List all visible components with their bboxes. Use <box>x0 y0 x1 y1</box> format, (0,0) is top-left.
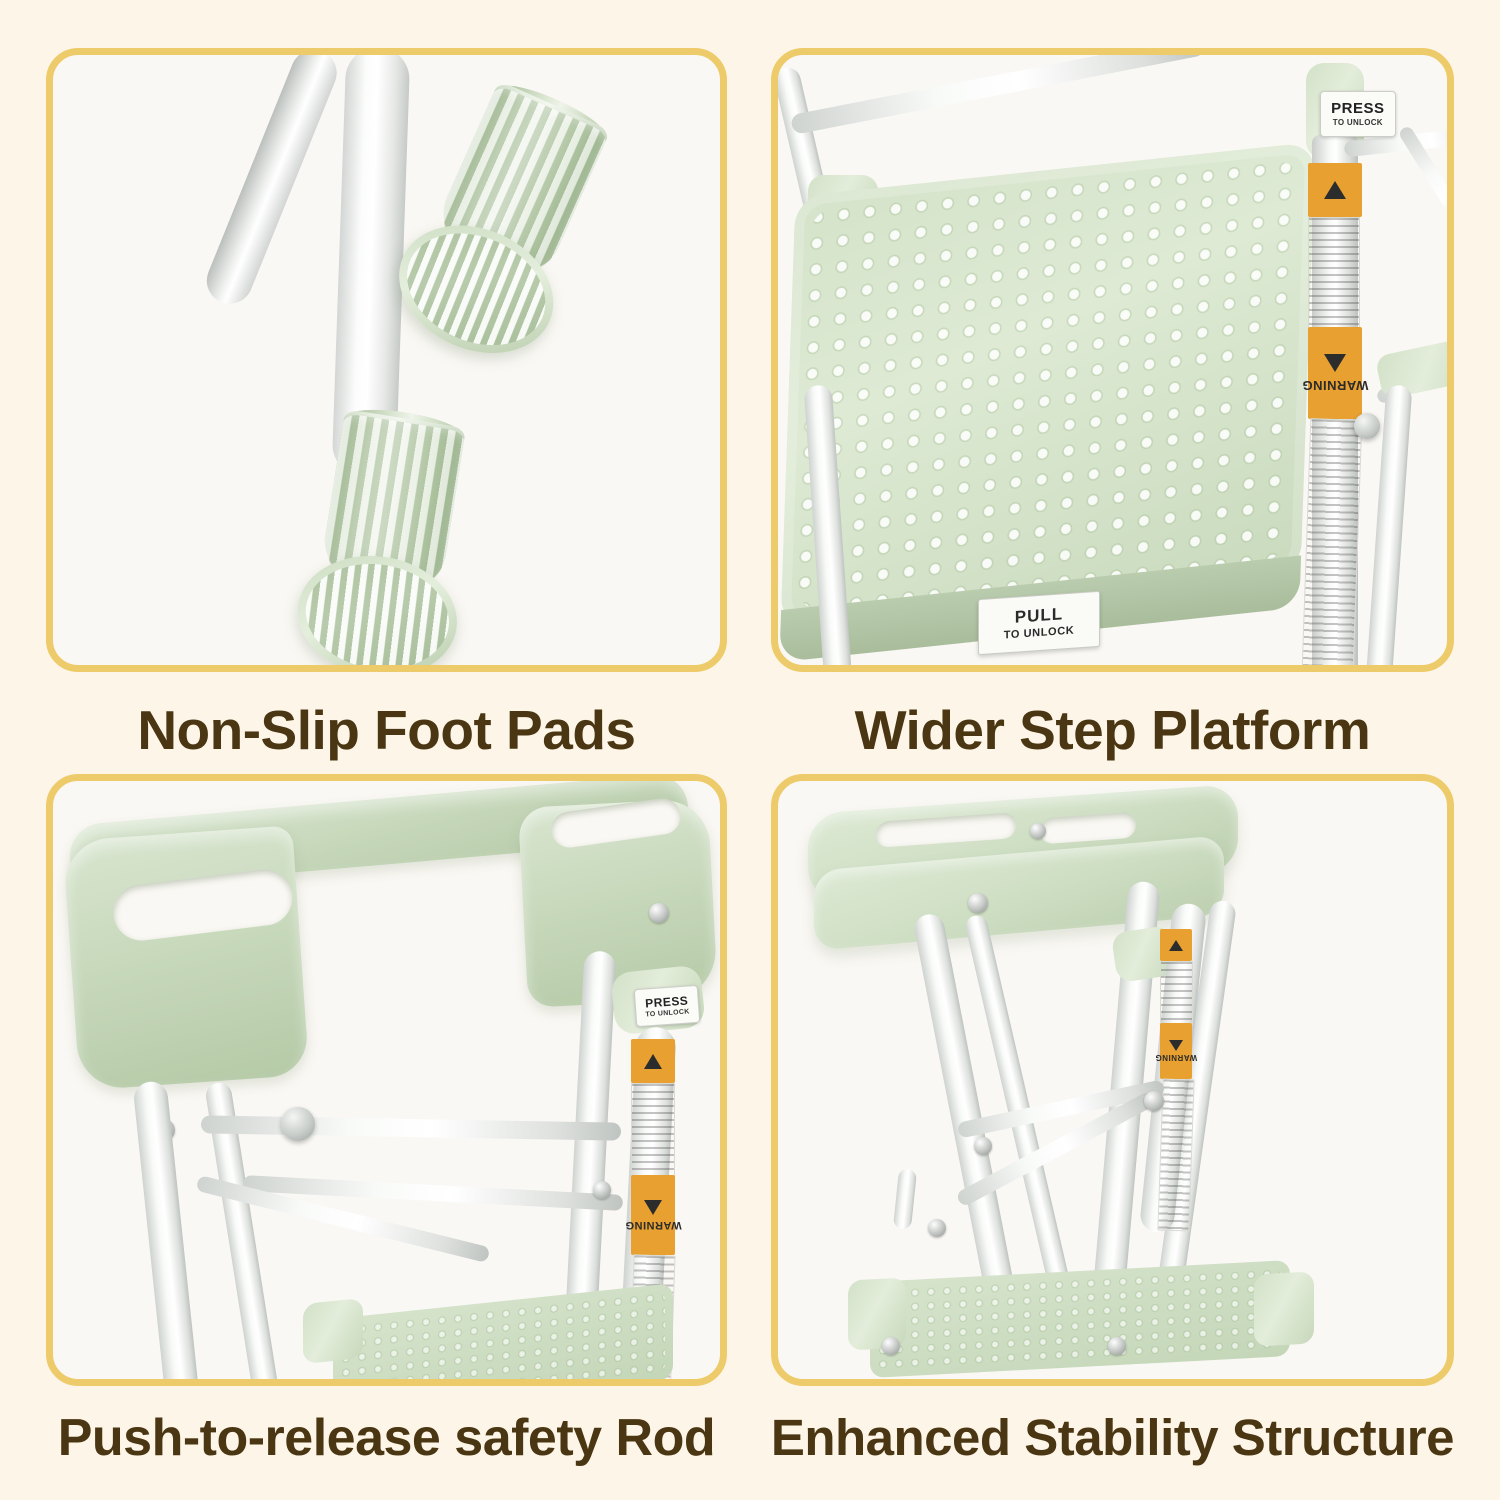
safety-rod-illustration: PRESS TO UNLOCK WARNING <box>53 781 720 1379</box>
top-rail-tube <box>790 48 1206 135</box>
feature-grid: Non-Slip Foot Pads PULL <box>0 0 1500 1500</box>
front-left-leg <box>912 912 1018 1310</box>
warning-triangle-icon <box>644 1054 662 1069</box>
spec-text-label <box>631 1083 675 1177</box>
warning-triangle-icon <box>1169 940 1183 951</box>
warning-arrow-band <box>1308 163 1362 217</box>
press-button-line1: PRESS <box>645 994 689 1009</box>
instruction-strip-label <box>1301 418 1362 672</box>
pull-tag-line1: PULL <box>1015 605 1063 625</box>
warning-triangle-icon <box>644 1200 662 1215</box>
platform-surface <box>780 142 1315 628</box>
side-green-bracket <box>1374 334 1454 400</box>
rear-support-tube <box>893 1168 917 1230</box>
feature-caption-push-to-release-safety-rod: Push-to-release safety Rod <box>46 1408 727 1468</box>
brace-rivet-right <box>1144 1091 1164 1111</box>
warning-label-band: WARNING <box>1160 1023 1192 1079</box>
handrail-left-arc <box>63 825 310 1090</box>
feature-image-push-to-release-safety-rod: PRESS TO UNLOCK WARNING <box>46 774 727 1386</box>
foot-pad-lower <box>292 407 480 672</box>
feature-cell-wider-step-platform: PULL TO UNLOCK PRESS TO UNLOCK WARNI <box>749 0 1500 762</box>
spec-text-label <box>1308 217 1360 331</box>
feature-caption-wider-step-platform: Wider Step Platform <box>771 698 1454 762</box>
handrail-right-rivet <box>649 903 669 923</box>
foot-pad-upper <box>389 75 624 355</box>
step-rivet-mid <box>1108 1337 1126 1355</box>
brace-rivet-left <box>928 1219 946 1237</box>
warning-text: WARNING <box>1302 378 1368 393</box>
press-button-line1: PRESS <box>1331 101 1384 116</box>
press-to-unlock-button[interactable]: PRESS TO UNLOCK <box>634 985 700 1027</box>
feature-caption-enhanced-stability-structure: Enhanced Stability Structure <box>771 1408 1454 1467</box>
feature-image-enhanced-stability-structure: WARNING <box>771 774 1454 1386</box>
step-platform <box>780 142 1315 628</box>
tray-hinge-rivet <box>968 893 988 913</box>
feature-cell-non-slip-foot-pads: Non-Slip Foot Pads <box>0 0 749 762</box>
platform-anti-slip-dots <box>797 160 1299 611</box>
foot-pads-illustration <box>53 55 720 665</box>
bottom-step-platform <box>870 1260 1290 1378</box>
warning-triangle-icon <box>1324 181 1346 199</box>
tray-rivet <box>1030 823 1046 839</box>
lower-step-texture <box>341 1292 665 1386</box>
warning-arrow-band <box>631 1039 675 1083</box>
feature-cell-enhanced-stability-structure: WARNING Enhanced Stability <box>749 762 1500 1500</box>
warning-arrow-band <box>1160 929 1192 961</box>
horizontal-cross-rod <box>201 1115 621 1140</box>
cross-rod-knob <box>281 1107 315 1141</box>
warning-triangle-icon <box>1324 354 1346 372</box>
pull-to-unlock-tag: PULL TO UNLOCK <box>978 591 1100 656</box>
step-side-bracket <box>303 1298 363 1364</box>
left-leg-tube <box>132 1080 199 1386</box>
ladder-brace-tube <box>200 48 344 311</box>
brace-rivet-mid <box>974 1137 992 1155</box>
spec-text-label <box>1160 961 1193 1025</box>
lower-step-platform <box>333 1283 673 1386</box>
step-right-bracket <box>1254 1271 1314 1346</box>
step-platform-illustration: PULL TO UNLOCK PRESS TO UNLOCK WARNI <box>778 55 1447 665</box>
lock-knob <box>1354 413 1380 439</box>
warning-triangle-icon <box>1169 1040 1183 1051</box>
warning-text: WARNING <box>1155 1053 1197 1062</box>
press-to-unlock-button[interactable]: PRESS TO UNLOCK <box>1320 91 1396 137</box>
step-rivet-left <box>882 1337 900 1355</box>
warning-label-band: WARNING <box>1308 327 1362 419</box>
feature-caption-non-slip-foot-pads: Non-Slip Foot Pads <box>46 698 727 762</box>
lower-rod-rivet <box>593 1181 611 1199</box>
feature-image-non-slip-foot-pads <box>46 48 727 672</box>
press-button-line2: TO UNLOCK <box>1333 118 1383 127</box>
bottom-step-texture <box>878 1268 1282 1369</box>
pull-tag-line2: TO UNLOCK <box>1004 625 1075 642</box>
warning-text: WARNING <box>625 1219 682 1231</box>
feature-image-wider-step-platform: PULL TO UNLOCK PRESS TO UNLOCK WARNI <box>771 48 1454 672</box>
feature-cell-push-to-release-safety-rod: PRESS TO UNLOCK WARNING <box>0 762 749 1500</box>
stability-structure-illustration: WARNING <box>778 781 1447 1379</box>
warning-label-band: WARNING <box>631 1175 675 1255</box>
